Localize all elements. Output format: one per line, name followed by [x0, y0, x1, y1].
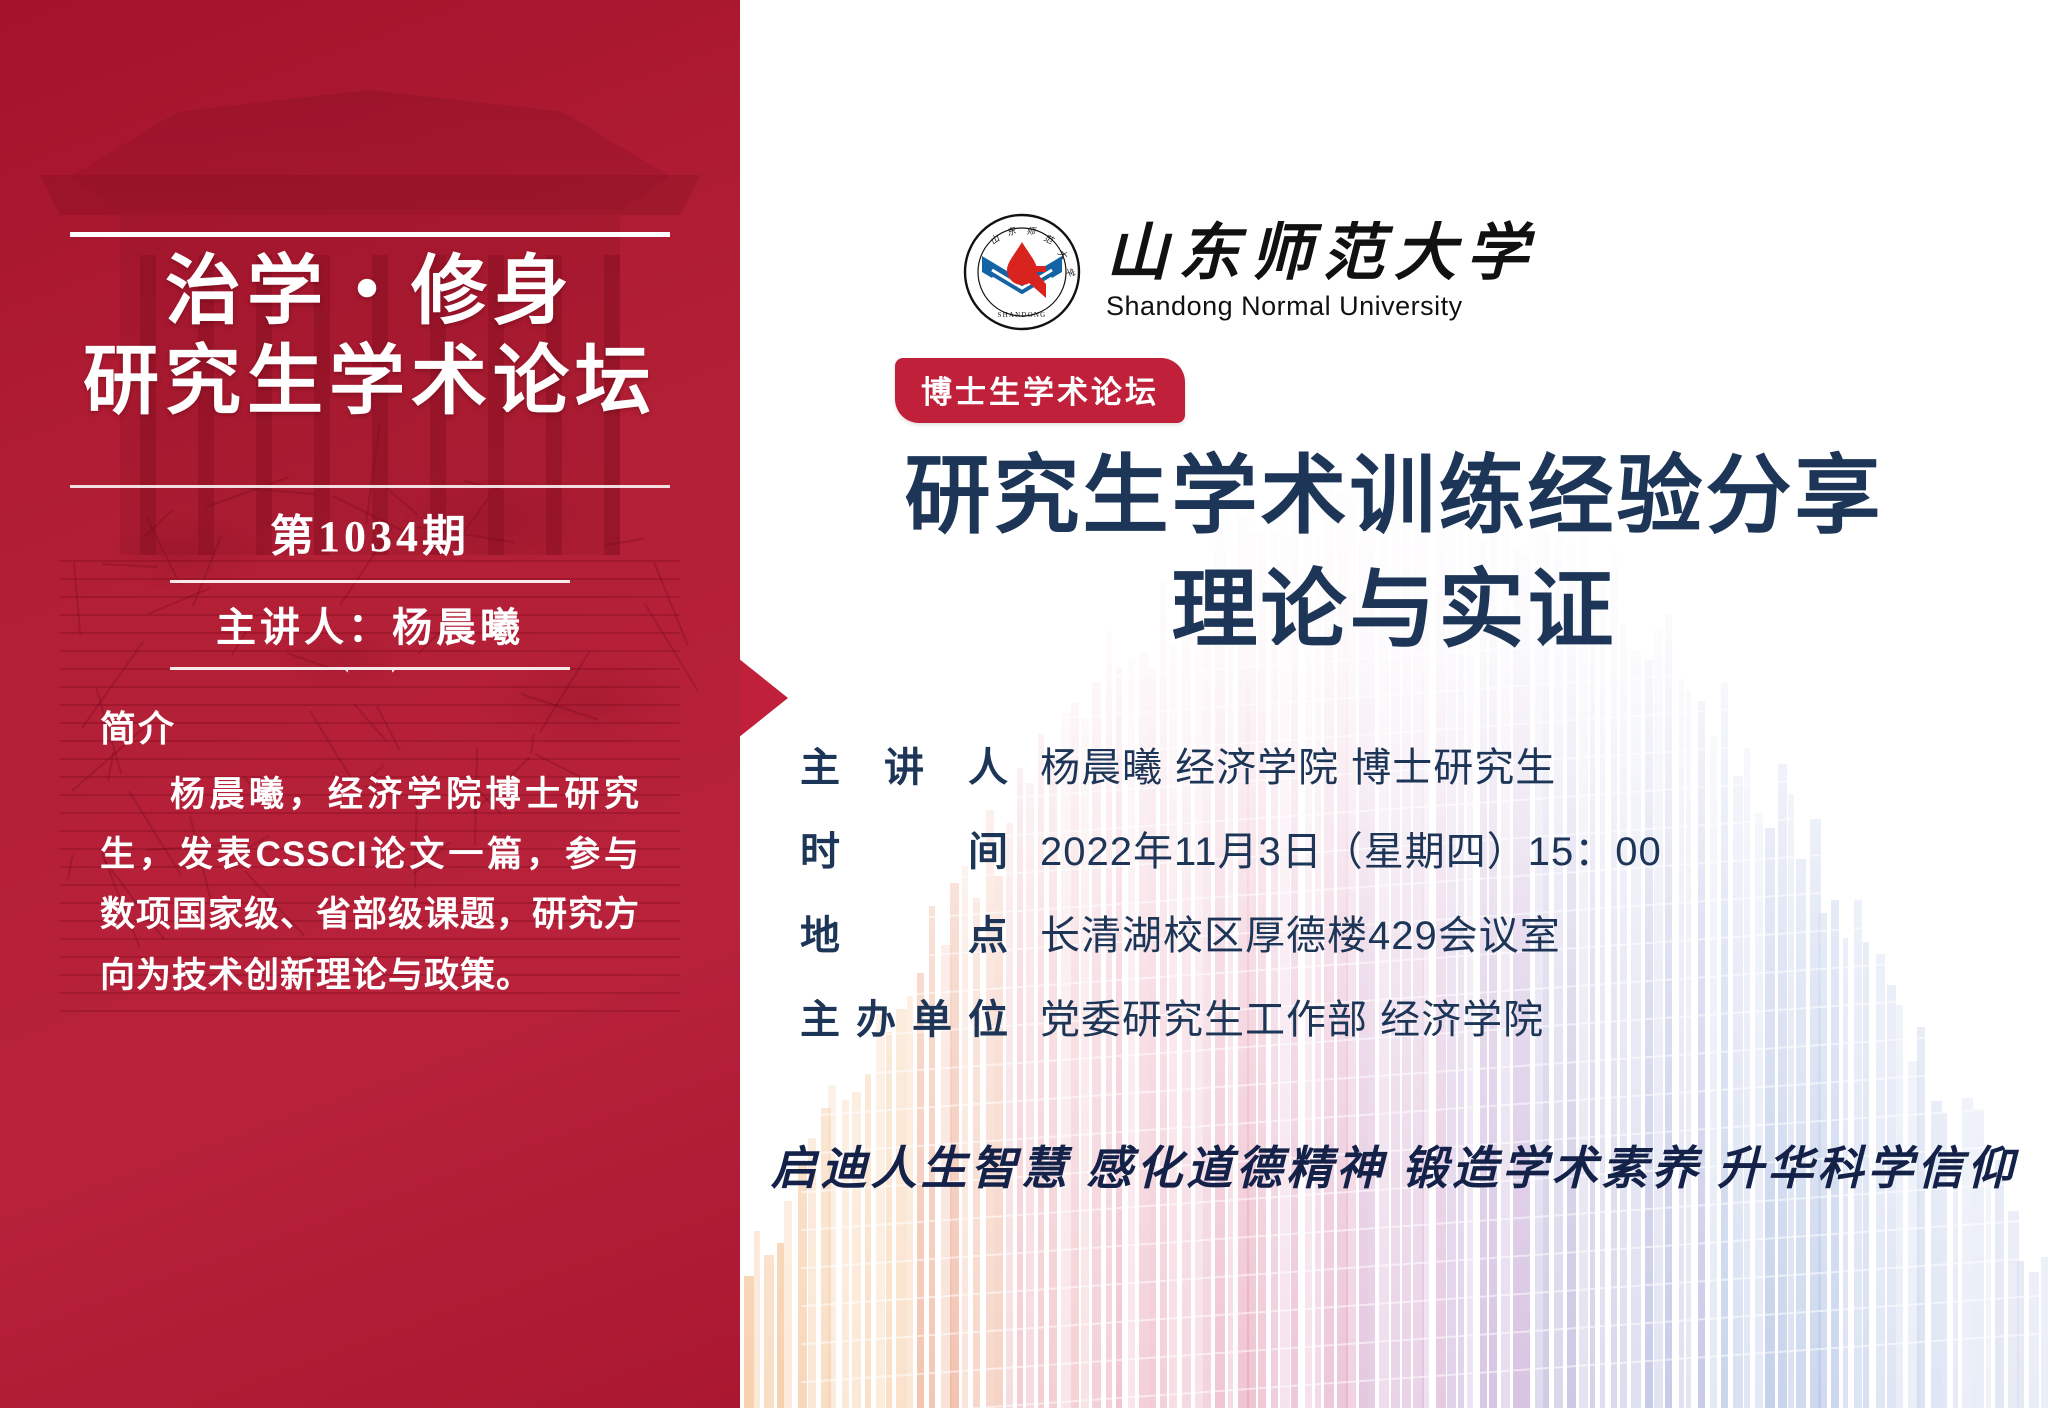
university-name-block: 山东师范大学 Shandong Normal University	[1106, 222, 1538, 322]
temple-eaves-texture	[40, 175, 700, 215]
title-line-2: 理论与实证	[740, 554, 2048, 668]
detail-row: 时间2022年11月3日（星期四）15：00	[800, 819, 2000, 877]
headline-line-2: 研究生学术论坛	[0, 338, 740, 428]
detail-row: 主讲人杨晨曦 经济学院 博士研究生	[800, 735, 2000, 793]
left-red-panel: 治学・修身 研究生学术论坛 第1034期 主讲人：杨晨曦 简介 杨晨曦，经济学院…	[0, 0, 740, 1408]
headline-line-1: 治学・修身	[0, 248, 740, 338]
speaker-name: 主讲人：杨晨曦	[170, 583, 570, 667]
forum-headline: 治学・修身 研究生学术论坛	[0, 248, 740, 427]
issue-number: 第1034期	[0, 500, 740, 564]
forum-slogan: 启迪人生智慧 感化道德精神 锻造学术素养 升华科学信仰	[740, 1132, 2048, 1198]
event-details: 主讲人杨晨曦 经济学院 博士研究生时间2022年11月3日（星期四）15：00地…	[800, 735, 2000, 1071]
detail-label: 主讲人	[800, 735, 1040, 793]
university-name-cn: 山东师范大学	[1106, 222, 1538, 287]
page-title: 研究生学术训练经验分享 理论与实证	[740, 440, 2048, 667]
chevron-down-icon	[345, 670, 395, 692]
detail-value: 长清湖校区厚德楼429会议室	[1040, 903, 1561, 961]
university-logo-block: SHANDONG 山 东 师 范 大 学 山东师范大学 Shandong Nor…	[962, 212, 1538, 332]
shandong-normal-university-emblem-icon: SHANDONG 山 东 师 范 大 学	[962, 212, 1082, 332]
detail-value: 杨晨曦 经济学院 博士研究生	[1040, 735, 1556, 793]
bio-label: 简介	[100, 700, 176, 752]
headline-top-rule	[70, 232, 670, 237]
detail-value: 2022年11月3日（星期四）15：00	[1040, 819, 1662, 877]
detail-row: 主办单位党委研究生工作部 经济学院	[800, 987, 2000, 1045]
title-line-1: 研究生学术训练经验分享	[905, 448, 1884, 544]
detail-label: 时间	[800, 819, 1040, 877]
bio-text: 杨晨曦，经济学院博士研究生，发表CSSCI论文一篇，参与数项国家级、省部级课题，…	[100, 765, 640, 1006]
detail-value: 党委研究生工作部 经济学院	[1040, 987, 1544, 1045]
poster-root: 治学・修身 研究生学术论坛 第1034期 主讲人：杨晨曦 简介 杨晨曦，经济学院…	[0, 0, 2048, 1408]
speaker-bottom-rule	[170, 667, 570, 670]
headline-bottom-rule	[70, 485, 670, 488]
detail-row: 地点长清湖校区厚德楼429会议室	[800, 903, 2000, 961]
detail-label: 地点	[800, 903, 1040, 961]
detail-label: 主办单位	[800, 987, 1040, 1045]
temple-roof-texture	[70, 90, 670, 210]
svg-text:SHANDONG: SHANDONG	[998, 311, 1047, 319]
right-white-panel: SHANDONG 山 东 师 范 大 学 山东师范大学 Shandong Nor…	[740, 0, 2048, 1408]
speaker-banner: 主讲人：杨晨曦	[170, 580, 570, 670]
forum-badge: 博士生学术论坛	[895, 358, 1185, 423]
university-name-en: Shandong Normal University	[1106, 291, 1538, 322]
